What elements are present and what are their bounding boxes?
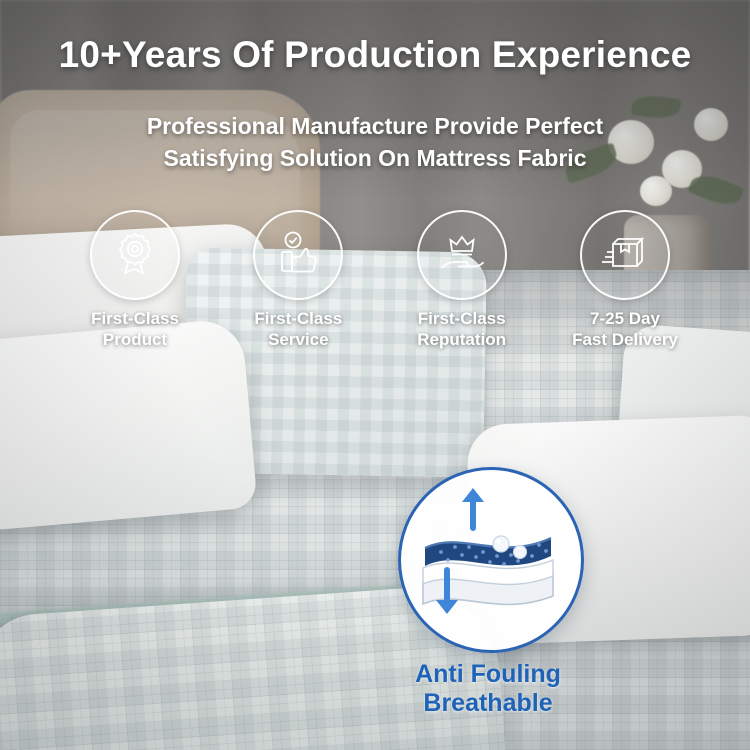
subtitle-line-2: Satisfying Solution On Mattress Fabric [0, 145, 750, 172]
feature-label-product: First-Class Product [91, 309, 179, 350]
feature-label-delivery: 7-25 Day Fast Delivery [572, 309, 678, 350]
feature-list: First-Class Product First-Class Service [75, 210, 685, 350]
award-badge-icon [110, 228, 160, 283]
feature-item-service: First-Class Service [238, 210, 358, 350]
feature-label-service: First-Class Service [254, 309, 342, 350]
feature-circle-delivery [580, 210, 670, 300]
feature-circle-service [253, 210, 343, 300]
feature-label-reputation: First-Class Reputation [417, 309, 506, 350]
thumbs-up-icon [273, 228, 323, 283]
product-poster: 10+Years Of Production Experience Profes… [0, 0, 750, 750]
feature-circle-reputation [417, 210, 507, 300]
crown-in-hand-icon [436, 227, 488, 284]
feature-item-product: First-Class Product [75, 210, 195, 350]
feature-item-reputation: First-Class Reputation [402, 210, 522, 350]
feature-item-delivery: 7-25 Day Fast Delivery [565, 210, 685, 350]
highlight-bubble [398, 467, 584, 653]
highlight-caption: Anti Fouling Breathable [358, 660, 618, 717]
subtitle-line-1: Professional Manufacture Provide Perfect [0, 113, 750, 140]
page-title: 10+Years Of Production Experience [0, 34, 750, 76]
shipping-box-icon [599, 227, 651, 284]
feature-circle-product [90, 210, 180, 300]
